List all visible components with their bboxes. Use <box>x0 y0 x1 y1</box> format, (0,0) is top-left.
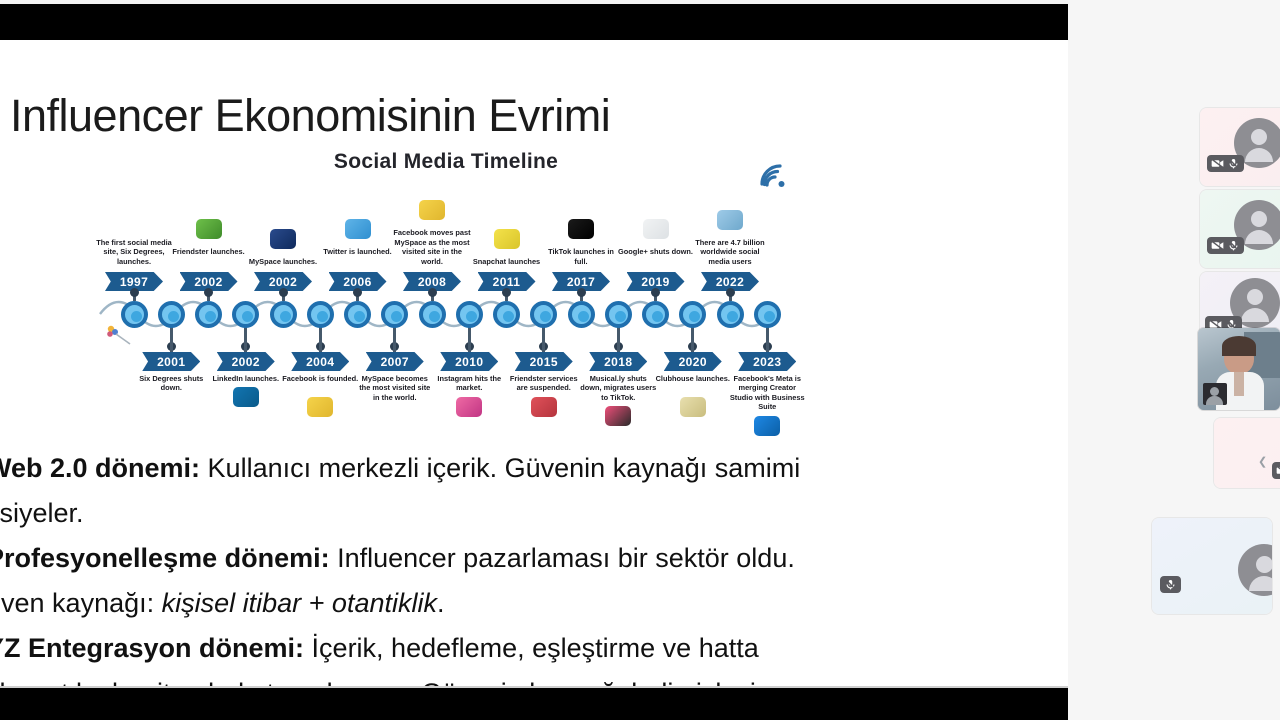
bullet-rest: vsiyeler. <box>0 498 84 528</box>
timeline-stem <box>170 326 173 352</box>
meta-logo <box>754 416 780 436</box>
people-crowd-logo <box>717 210 743 230</box>
stage-letterbox-bottom <box>0 688 1068 720</box>
facebook-logo <box>307 397 333 417</box>
timeline-node <box>270 301 297 328</box>
timeline-caption: Facebook's Meta is merging Creator Studi… <box>728 374 806 412</box>
musically-tiktok-logo <box>605 406 631 426</box>
timeline-stem-dot <box>726 288 735 297</box>
timeline-node <box>679 301 706 328</box>
timeline-node <box>419 301 446 328</box>
timeline-stem <box>319 326 322 352</box>
mic-off-icon <box>1227 158 1240 169</box>
bullet-lead: Profesyonelleşme dönemi: <box>0 543 330 573</box>
timeline-year-badge: 2001 <box>142 352 200 371</box>
presentation-stage[interactable]: Influencer Ekonomisinin Evrimi Social Me… <box>0 0 1068 720</box>
twitter-logo <box>345 219 371 239</box>
timeline-node <box>307 301 334 328</box>
slide-surface: Influencer Ekonomisinin Evrimi Social Me… <box>0 40 1068 688</box>
timeline-caption: Instagram hits the market. <box>430 374 508 393</box>
timeline-stem <box>542 326 545 352</box>
bullet-line-1: Web 2.0 dönemi: Kullanıcı merkezli içeri… <box>0 448 996 488</box>
timeline-node <box>344 301 371 328</box>
page-title: Influencer Ekonomisinin Evrimi <box>10 90 610 142</box>
camera-off-icon <box>1211 240 1224 251</box>
instagram-logo <box>456 397 482 417</box>
mic-off-icon <box>1227 240 1240 251</box>
timeline-node <box>493 301 520 328</box>
timeline-track: The first social media site, Six Degrees… <box>96 202 796 460</box>
participant-tile[interactable] <box>1152 518 1272 614</box>
timeline-node <box>568 301 595 328</box>
timeline-infographic: Social Media Timeline The first social m… <box>96 150 796 460</box>
timeline-node <box>195 301 222 328</box>
timeline-stem <box>244 326 247 352</box>
timeline-node <box>381 301 408 328</box>
timeline-year-badge: 2020 <box>664 352 722 371</box>
wifi-icon <box>756 160 790 190</box>
facebook-logo <box>419 200 445 220</box>
participant-tile[interactable] <box>1214 418 1280 488</box>
timeline-year-badge: 2023 <box>738 352 796 371</box>
timeline-caption: MySpace launches. <box>244 257 322 266</box>
bullet-rest: Influencer pazarlaması bir sektör oldu. <box>330 543 795 573</box>
timeline-stem <box>617 326 620 352</box>
timeline-stem-dot <box>428 288 437 297</box>
camera-off-icon <box>1276 465 1280 476</box>
avatar <box>1238 544 1272 596</box>
camera-off-icon <box>1211 158 1224 169</box>
clubhouse-logo <box>680 397 706 417</box>
timeline-caption: Musical.ly shuts down, migrates users to… <box>579 374 657 402</box>
participant-tile[interactable] <box>1200 190 1280 268</box>
bullet-tail: . <box>437 588 445 618</box>
timeline-year-badge: 2004 <box>291 352 349 371</box>
timeline-stem-dot <box>577 288 586 297</box>
snapchat-logo <box>494 229 520 249</box>
bullet-lead: YZ Entegrasyon dönemi: <box>0 633 304 663</box>
tile-status-badges <box>1207 237 1244 254</box>
timeline-node <box>605 301 632 328</box>
timeline-stem <box>393 326 396 352</box>
timeline-stem-dot <box>502 288 511 297</box>
timeline-caption: The first social media site, Six Degrees… <box>95 238 173 266</box>
timeline-year-badge: 2018 <box>589 352 647 371</box>
confetti-clipart-icon <box>102 320 132 346</box>
timeline-caption: MySpace becomes the most visited site in… <box>356 374 434 402</box>
participant-video-tile[interactable] <box>1198 328 1280 410</box>
no-entry-logo <box>531 397 557 417</box>
screen: Influencer Ekonomisinin Evrimi Social Me… <box>0 0 1280 720</box>
timeline-stem <box>766 326 769 352</box>
slide-body-text: Web 2.0 dönemi: Kullanıcı merkezli içeri… <box>0 448 996 688</box>
infographic-title: Social Media Timeline <box>96 150 796 174</box>
chevron-left-icon[interactable]: ❮ <box>1258 455 1267 468</box>
timeline-node <box>754 301 781 328</box>
timeline-year-badge: 2002 <box>217 352 275 371</box>
bullet-line-4: üven kaynağı: kişisel itibar + otantikli… <box>0 583 996 623</box>
timeline-caption: Snapchat launches <box>468 257 546 266</box>
stage-letterbox-top <box>0 4 1068 40</box>
timeline-stem <box>691 326 694 352</box>
timeline-caption: Friendster services are suspended. <box>505 374 583 393</box>
tile-status-badges <box>1207 155 1244 172</box>
timeline-caption: Facebook is founded. <box>281 374 359 383</box>
bullet-rest: üven kaynağı: <box>0 588 162 618</box>
bullet-emphasis: kişisel itibar + otantiklik <box>162 588 437 618</box>
tile-status-badges <box>1160 576 1181 593</box>
timeline-node <box>158 301 185 328</box>
participant-tile[interactable] <box>1200 108 1280 186</box>
timeline-stem-dot <box>651 288 660 297</box>
bullet-rest: Kullanıcı merkezli içerik. Güvenin kayna… <box>200 453 800 483</box>
picture-in-picture <box>1203 383 1227 405</box>
timeline-stem-dot <box>204 288 213 297</box>
timeline-node <box>717 301 744 328</box>
mic-off-icon <box>1164 579 1177 590</box>
friendster-logo <box>196 219 222 239</box>
linkedin-logo <box>233 387 259 407</box>
timeline-node <box>456 301 483 328</box>
timeline-caption: TikTok launches in full. <box>542 247 620 266</box>
myspace-logo <box>270 229 296 249</box>
timeline-stem-dot <box>279 288 288 297</box>
tiktok-logo <box>568 219 594 239</box>
bullet-line-2: vsiyeler. <box>0 493 996 533</box>
timeline-stem-dot <box>130 288 139 297</box>
timeline-year-badge: 2007 <box>366 352 424 371</box>
timeline-node <box>530 301 557 328</box>
timeline-year-badge: 2015 <box>515 352 573 371</box>
timeline-node <box>232 301 259 328</box>
timeline-caption: There are 4.7 billion worldwide social m… <box>691 238 769 266</box>
participant-rail[interactable]: ❮ <box>1068 0 1280 720</box>
timeline-caption: Google+ shuts down. <box>617 247 695 256</box>
timeline-stem-dot <box>353 288 362 297</box>
timeline-stem <box>468 326 471 352</box>
googleplus-logo <box>643 219 669 239</box>
timeline-caption: Clubhouse launches. <box>654 374 732 383</box>
bullet-line-3: Profesyonelleşme dönemi: Influencer paza… <box>0 538 996 578</box>
timeline-caption: Twitter is launched. <box>319 247 397 256</box>
timeline-caption: LinkedIn launches. <box>207 374 285 383</box>
timeline-year-badge: 2010 <box>440 352 498 371</box>
timeline-caption: Facebook moves past MySpace as the most … <box>393 228 471 266</box>
tile-status-badges <box>1272 462 1280 479</box>
bullet-lead: Web 2.0 dönemi: <box>0 453 200 483</box>
bullet-rest: İçerik, hedefleme, eşleştirme ve hatta <box>304 633 759 663</box>
timeline-caption: Friendster launches. <box>170 247 248 256</box>
timeline-node <box>642 301 669 328</box>
timeline-caption: Six Degrees shuts down. <box>132 374 210 393</box>
bullet-line-5: YZ Entegrasyon dönemi: İçerik, hedefleme… <box>0 628 996 668</box>
